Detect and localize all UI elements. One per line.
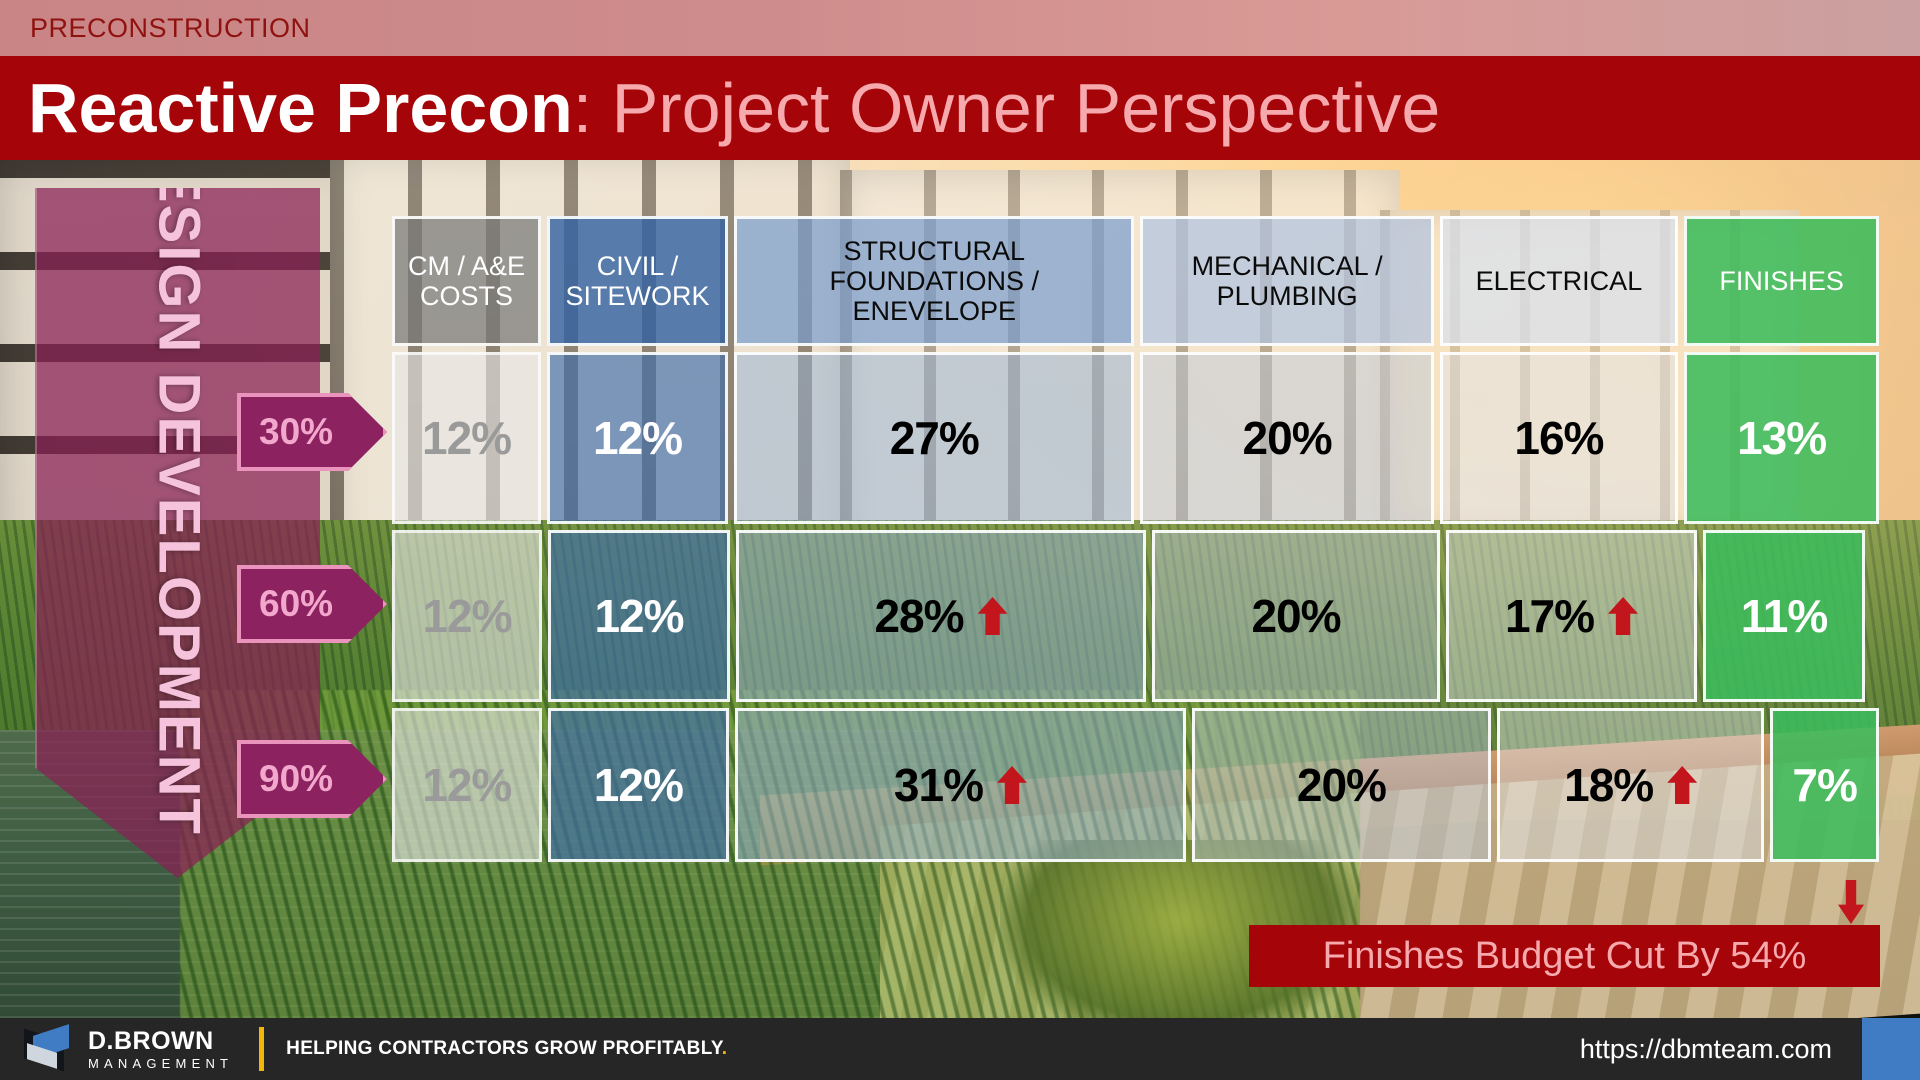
column-header-struct-line1: STRUCTURAL xyxy=(843,236,1025,266)
cell-30-cm: 12% xyxy=(392,352,541,524)
matrix-row-90: 12% 12% 31% 20% 18% 7% xyxy=(392,708,1879,862)
cell-90-electrical: 18% xyxy=(1497,708,1764,862)
dbrown-cube-logo-icon xyxy=(22,1027,76,1071)
cell-90-structural-value: 31% xyxy=(894,758,983,812)
matrix-row-30: 12% 12% 27% 20% 16% 13% xyxy=(392,352,1879,524)
page-title-main: Reactive Precon xyxy=(28,69,573,147)
cell-30-finishes-value: 13% xyxy=(1737,411,1826,465)
cell-60-civil: 12% xyxy=(548,530,730,702)
cell-60-finishes-value: 11% xyxy=(1741,589,1828,643)
column-header-civil-line1: CIVIL / xyxy=(597,251,679,281)
cell-60-mechanical: 20% xyxy=(1152,530,1440,702)
column-header-struct-line3: ENEVELOPE xyxy=(852,296,1016,326)
cell-30-structural: 27% xyxy=(734,352,1135,524)
cell-30-cm-value: 12% xyxy=(422,411,511,465)
up-arrow-icon xyxy=(1667,766,1697,804)
matrix-row-60: 12% 12% 28% 20% 17% 11% xyxy=(392,530,1879,702)
cell-60-electrical-value: 17% xyxy=(1505,589,1594,643)
cell-90-civil-value: 12% xyxy=(594,758,683,812)
cell-60-cm: 12% xyxy=(392,530,542,702)
cell-60-cm-value: 12% xyxy=(422,589,511,643)
column-header-mech-line1: MECHANICAL / xyxy=(1192,251,1383,281)
footer-bar: D.BROWN MANAGEMENT HELPING CONTRACTORS G… xyxy=(0,1018,1920,1080)
column-header-finishes-label: FINISHES xyxy=(1713,266,1850,296)
milestone-tag-30-label: 30% xyxy=(259,411,333,453)
column-header-electrical: ELECTRICAL xyxy=(1440,216,1679,346)
column-header-cm-ae-costs: CM / A&E COSTS xyxy=(392,216,541,346)
footer-divider xyxy=(259,1027,264,1071)
page-title-sub: : Project Owner Perspective xyxy=(573,69,1441,147)
eyebrow-bar: PRECONSTRUCTION xyxy=(0,0,1920,56)
up-arrow-icon xyxy=(1608,597,1638,635)
logo-name: D.BROWN xyxy=(88,1029,233,1054)
matrix-header-row: CM / A&E COSTS CIVIL / SITEWORK STRUCTUR… xyxy=(392,216,1879,346)
cell-90-structural: 31% xyxy=(735,708,1186,862)
cell-90-civil: 12% xyxy=(548,708,730,862)
column-header-civil-line2: SITEWORK xyxy=(566,281,710,311)
logo-wordmark: D.BROWN MANAGEMENT xyxy=(88,1029,233,1070)
cell-30-structural-value: 27% xyxy=(890,411,979,465)
milestone-tag-60-label: 60% xyxy=(259,583,333,625)
cell-60-finishes: 11% xyxy=(1703,530,1865,702)
footer-url[interactable]: https://dbmteam.com xyxy=(1580,1034,1832,1065)
column-header-civil-sitework: CIVIL / SITEWORK xyxy=(547,216,728,346)
logo-subtitle: MANAGEMENT xyxy=(88,1057,233,1070)
cell-30-mechanical-value: 20% xyxy=(1243,411,1332,465)
footer-accent-square xyxy=(1862,1018,1920,1080)
cell-30-civil: 12% xyxy=(547,352,728,524)
cell-30-finishes: 13% xyxy=(1684,352,1879,524)
cell-60-structural-value: 28% xyxy=(874,589,963,643)
column-header-mech-line2: PLUMBING xyxy=(1217,281,1358,311)
cell-60-civil-value: 12% xyxy=(594,589,683,643)
cell-60-mechanical-value: 20% xyxy=(1251,589,1340,643)
budget-matrix: CM / A&E COSTS CIVIL / SITEWORK STRUCTUR… xyxy=(392,216,1879,862)
up-arrow-icon xyxy=(997,766,1027,804)
column-header-cm-line1: CM / A&E xyxy=(408,251,525,281)
cell-90-cm: 12% xyxy=(392,708,542,862)
column-header-structural: STRUCTURAL FOUNDATIONS / ENEVELOPE xyxy=(734,216,1135,346)
cell-60-electrical: 17% xyxy=(1446,530,1697,702)
cell-90-mechanical: 20% xyxy=(1192,708,1491,862)
page-title: Reactive Precon: Project Owner Perspecti… xyxy=(28,73,1440,143)
cell-90-cm-value: 12% xyxy=(422,758,511,812)
column-header-finishes: FINISHES xyxy=(1684,216,1879,346)
cell-30-civil-value: 12% xyxy=(593,411,682,465)
eyebrow-label: PRECONSTRUCTION xyxy=(30,13,311,44)
title-bar: Reactive Precon: Project Owner Perspecti… xyxy=(0,56,1920,160)
cell-90-finishes-value: 7% xyxy=(1792,758,1856,812)
footer-tagline-dot: . xyxy=(722,1038,728,1059)
cell-90-finishes: 7% xyxy=(1770,708,1879,862)
cell-30-electrical: 16% xyxy=(1440,352,1679,524)
cell-30-mechanical: 20% xyxy=(1140,352,1433,524)
column-header-electrical-label: ELECTRICAL xyxy=(1470,266,1649,296)
caption-bar: Finishes Budget Cut By 54% xyxy=(1249,925,1880,987)
footer-tagline: HELPING CONTRACTORS GROW PROFITABLY. xyxy=(286,1038,727,1060)
cell-60-structural: 28% xyxy=(736,530,1146,702)
cell-30-electrical-value: 16% xyxy=(1514,411,1603,465)
phase-banner-label: DESIGN DEVELOPMENT xyxy=(145,120,212,836)
cell-90-electrical-value: 18% xyxy=(1564,758,1653,812)
column-header-cm-line2: COSTS xyxy=(420,281,513,311)
footer-tagline-text: HELPING CONTRACTORS GROW PROFITABLY xyxy=(286,1038,722,1059)
cell-90-mechanical-value: 20% xyxy=(1297,758,1386,812)
milestone-tag-90-label: 90% xyxy=(259,758,333,800)
caption-label: Finishes Budget Cut By 54% xyxy=(1323,935,1807,978)
column-header-mechanical-plumbing: MECHANICAL / PLUMBING xyxy=(1140,216,1433,346)
up-arrow-icon xyxy=(978,597,1008,635)
column-header-struct-line2: FOUNDATIONS / xyxy=(829,266,1039,296)
